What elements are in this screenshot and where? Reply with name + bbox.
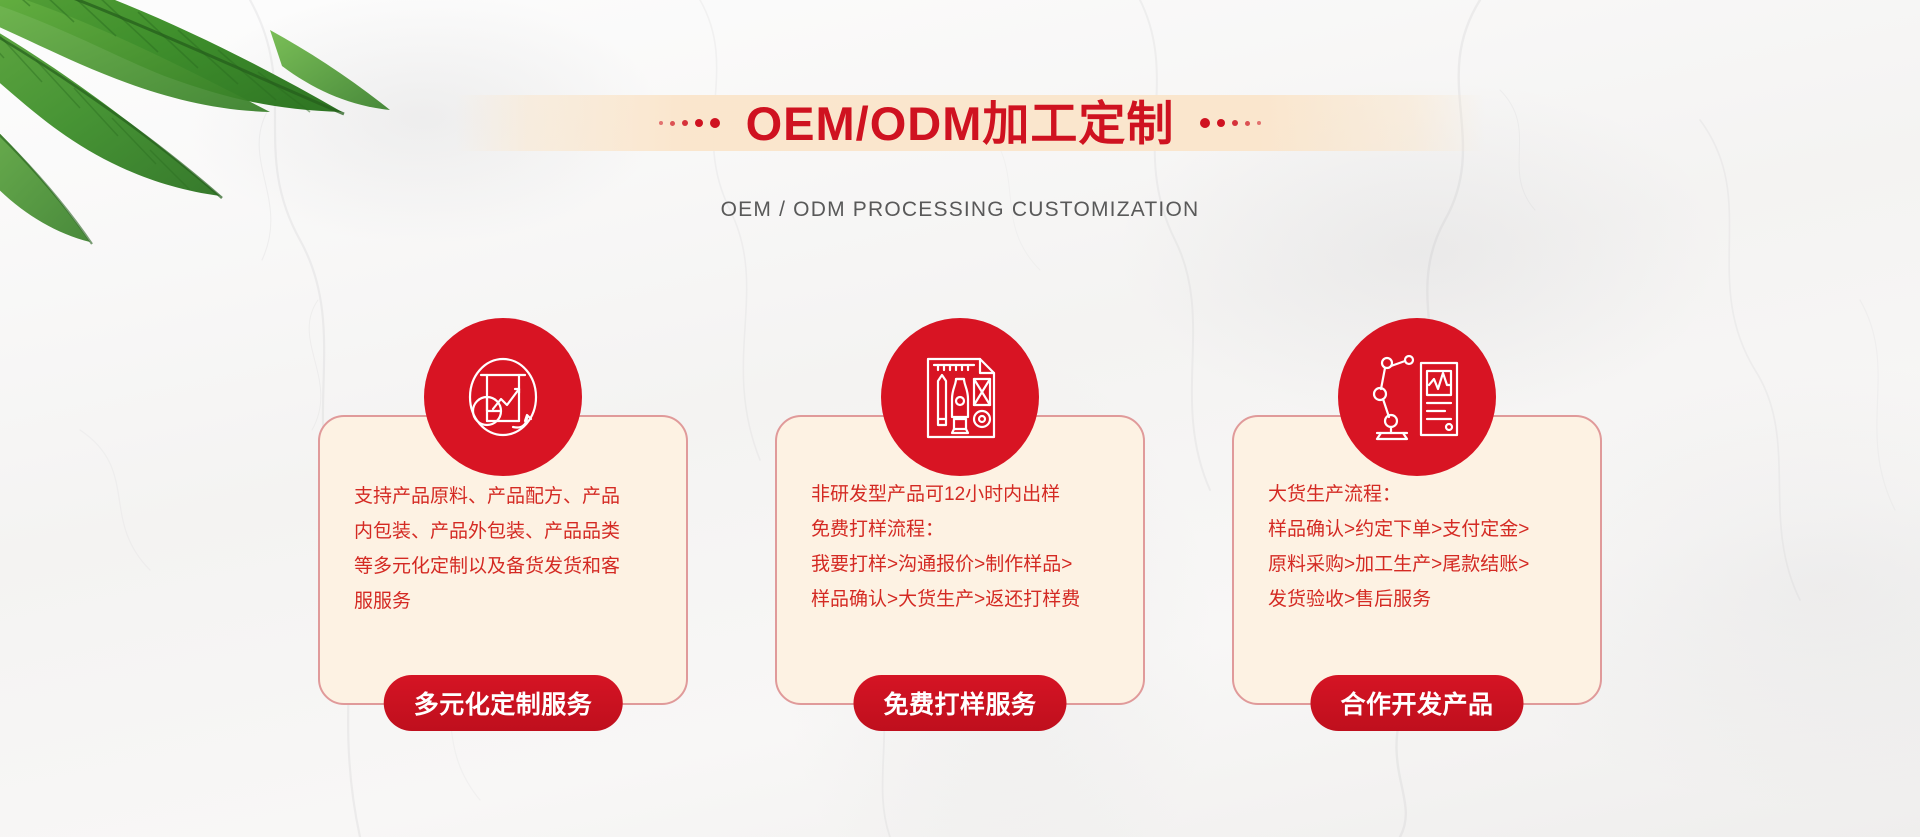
feature-card: 支持产品原料、产品配方、产品 内包装、产品外包装、产品品类 等多元化定制以及备货… bbox=[318, 400, 688, 705]
feature-cards: 支持产品原料、产品配方、产品 内包装、产品外包装、产品品类 等多元化定制以及备货… bbox=[0, 400, 1920, 705]
page-title: OEM/ODM加工定制 bbox=[746, 100, 1175, 147]
card-badge[interactable]: 多元化定制服务 bbox=[384, 675, 623, 731]
decorative-dots-icon-right bbox=[1200, 118, 1261, 128]
feature-card: 非研发型产品可12小时内出样 免费打样流程： 我要打样>沟通报价>制作样品> 样… bbox=[775, 400, 1145, 705]
chart-presentation-icon bbox=[424, 318, 582, 476]
card-text: 支持产品原料、产品配方、产品 内包装、产品外包装、产品品类 等多元化定制以及备货… bbox=[354, 479, 652, 619]
title-banner: OEM/ODM加工定制 bbox=[0, 95, 1920, 151]
page-subtitle: OEM / ODM PROCESSING CUSTOMIZATION bbox=[0, 198, 1920, 222]
card-text: 大货生产流程： 样品确认>约定下单>支付定金> 原料采购>加工生产>尾款结账> … bbox=[1268, 477, 1566, 617]
robot-arm-machine-icon bbox=[1338, 318, 1496, 476]
design-tools-document-icon bbox=[881, 318, 1039, 476]
feature-card: 大货生产流程： 样品确认>约定下单>支付定金> 原料采购>加工生产>尾款结账> … bbox=[1232, 400, 1602, 705]
decorative-dots-icon-left bbox=[659, 118, 720, 128]
card-badge[interactable]: 合作开发产品 bbox=[1310, 675, 1523, 731]
card-text: 非研发型产品可12小时内出样 免费打样流程： 我要打样>沟通报价>制作样品> 样… bbox=[811, 477, 1109, 617]
card-badge[interactable]: 免费打样服务 bbox=[853, 675, 1066, 731]
